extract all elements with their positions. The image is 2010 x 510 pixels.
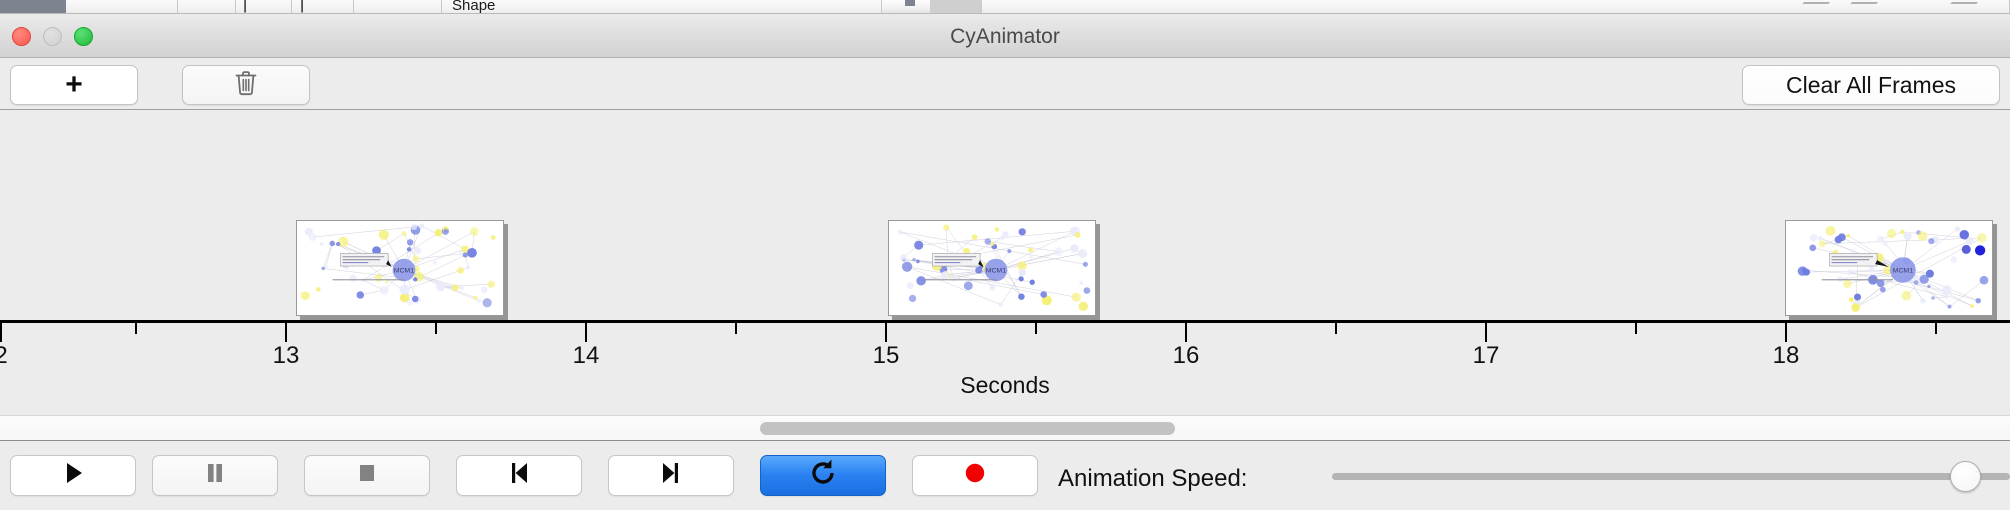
ruler-tick-label: 2 [0, 342, 8, 370]
ruler-minor-tick [1035, 323, 1037, 334]
ruler-major-tick [585, 323, 587, 342]
stop-icon [350, 456, 384, 495]
ruler-minor-tick [1335, 323, 1337, 334]
transport-bar: Animation Speed: [0, 441, 2010, 509]
stop-button [304, 455, 430, 496]
bg-cell [930, 0, 982, 14]
skip-start-icon [502, 456, 536, 495]
loop-icon [806, 456, 840, 495]
ruler-tick-label: 16 [1173, 342, 1200, 370]
ruler-major-tick [1185, 323, 1187, 342]
plus-icon: + [65, 70, 83, 100]
timeline-scrollbar-thumb[interactable] [760, 422, 1175, 435]
bg-marker [905, 0, 915, 6]
animation-speed-label: Animation Speed: [1058, 465, 1247, 493]
ruler-major-tick [0, 323, 2, 342]
delete-frame-button[interactable] [182, 65, 310, 105]
timeline-frame-thumbnail[interactable]: MCM1 [1785, 220, 1993, 316]
add-frame-button[interactable]: + [10, 65, 138, 105]
ruler-minor-tick [735, 323, 737, 334]
animation-speed-track[interactable] [1332, 473, 2010, 480]
ruler-tick-label: 13 [273, 342, 300, 370]
ruler-baseline [0, 320, 2010, 323]
pause-button [152, 455, 278, 496]
timeline-panel[interactable]: MCM1 MCM1 MCM1 [0, 110, 2010, 415]
svg-text:MCM1: MCM1 [1893, 268, 1914, 275]
ruler-minor-tick [135, 323, 137, 334]
ruler-tick-label: 15 [873, 342, 900, 370]
bg-window-label: Shape [452, 0, 495, 14]
clear-all-frames-label: Clear All Frames [1786, 72, 1956, 99]
skip-end-icon [654, 456, 688, 495]
svg-text:MCM1: MCM1 [986, 268, 1007, 275]
ruler-tick-label: 18 [1773, 342, 1800, 370]
cyanimator-window: CyAnimator + Clear All Frames MCM1 [0, 14, 2010, 510]
window-title: CyAnimator [0, 25, 2010, 49]
timeline-ruler[interactable]: 2131415161718 Seconds [0, 320, 2010, 415]
play-icon [56, 456, 90, 495]
frames-layer: MCM1 MCM1 MCM1 [0, 110, 2010, 320]
ruler-axis-title: Seconds [0, 372, 2010, 399]
timeline-frame-thumbnail[interactable]: MCM1 [888, 220, 1096, 316]
ruler-minor-tick [1935, 323, 1937, 334]
background-window-strip: | | Shape [0, 0, 2010, 14]
ruler-minor-tick [435, 323, 437, 334]
bg-cell [354, 0, 442, 14]
svg-text:MCM1: MCM1 [394, 268, 415, 275]
ruler-tick-label: 17 [1473, 342, 1500, 370]
bg-cell [442, 0, 882, 14]
timeline-scrollbar-track[interactable] [0, 415, 2010, 441]
clear-all-frames-button[interactable]: Clear All Frames [1742, 65, 2000, 105]
skip-start-button[interactable] [456, 455, 582, 496]
title-bar: CyAnimator [0, 14, 2010, 58]
ruler-major-tick [285, 323, 287, 342]
loop-button[interactable] [760, 455, 886, 496]
record-button[interactable] [912, 455, 1038, 496]
animation-speed-knob[interactable] [1950, 461, 1981, 492]
animation-speed-slider[interactable] [1332, 473, 2010, 481]
bg-cell [66, 0, 178, 14]
ruler-major-tick [1785, 323, 1787, 342]
timeline-frame-thumbnail[interactable]: MCM1 [296, 220, 504, 316]
bg-glyph: | [243, 0, 247, 14]
trash-icon [233, 69, 259, 102]
pause-icon [198, 456, 232, 495]
ruler-tick-label: 14 [573, 342, 600, 370]
ruler-minor-tick [1635, 323, 1637, 334]
ruler-major-tick [885, 323, 887, 342]
bg-dark-block [0, 0, 66, 14]
play-button[interactable] [10, 455, 136, 496]
bg-cell [178, 0, 236, 14]
record-icon [958, 456, 992, 495]
skip-end-button[interactable] [608, 455, 734, 496]
frame-toolbar: + Clear All Frames [0, 58, 2010, 110]
ruler-major-tick [1485, 323, 1487, 342]
bg-glyph: | [300, 0, 304, 14]
